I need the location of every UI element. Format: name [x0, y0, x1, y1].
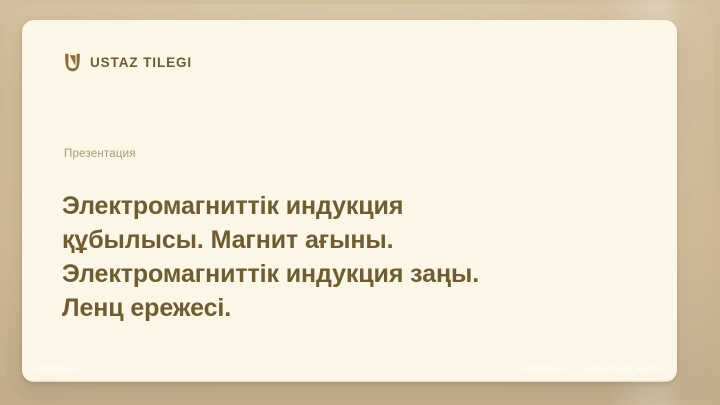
- brand-name-label: USTAZ TILEGI: [90, 55, 192, 70]
- slide-kicker-label: Презентация: [64, 148, 136, 160]
- slide-stage: USTAZ TILEGI Презентация Электромагнитті…: [0, 0, 720, 405]
- footer-left-watermark: ustaztilegi.kz: [34, 364, 85, 373]
- slide-title-line-3: Электромагниттік индукция заңы.: [62, 257, 642, 291]
- card-bottom-edge-decoration: [22, 380, 677, 382]
- slide-title: Электромагниттік индукция құбылысы. Магн…: [62, 189, 642, 325]
- slide-title-line-1: Электромагниттік индукция: [62, 189, 642, 223]
- slide-title-line-4: Ленц ережесі.: [62, 291, 642, 325]
- slide-title-line-2: құбылысы. Магнит ағыны.: [62, 223, 642, 257]
- presentation-slide-card: USTAZ TILEGI Презентация Электромагнитті…: [22, 20, 677, 382]
- tulip-leaf-logo-icon: [64, 53, 81, 72]
- footer-right-watermark: ustaztilegi.kz • презентация жүктеу: [522, 364, 663, 373]
- brand-lockup[interactable]: USTAZ TILEGI: [64, 53, 192, 72]
